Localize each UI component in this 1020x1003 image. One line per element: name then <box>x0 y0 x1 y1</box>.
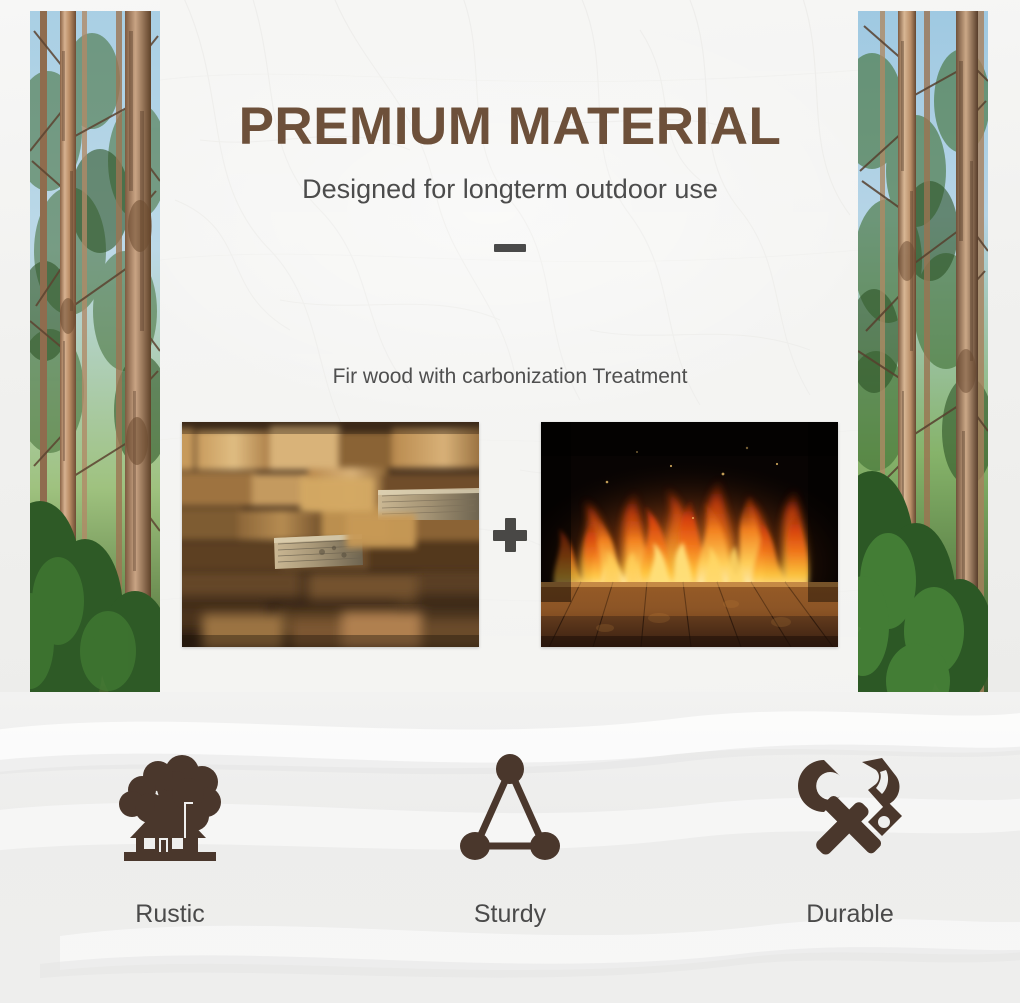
plus-icon <box>493 518 527 552</box>
feature-item-durable[interactable]: Durable <box>680 692 1020 1003</box>
house-with-tree-icon <box>110 750 230 870</box>
features-section: Rustic <box>0 692 1020 1003</box>
media-row <box>182 422 838 647</box>
title-block: PREMIUM MATERIAL Designed for longterm o… <box>160 98 860 252</box>
feature-label-rustic: Rustic <box>135 902 204 927</box>
hammer-wrench-icon <box>790 750 910 870</box>
page-title: PREMIUM MATERIAL <box>160 98 860 155</box>
material-caption: Fir wood with carbonization Treatment <box>160 365 860 389</box>
forest-strip-right <box>858 11 988 692</box>
feature-item-rustic[interactable]: Rustic <box>0 692 340 1003</box>
feature-label-sturdy: Sturdy <box>474 902 546 927</box>
feature-item-sturdy[interactable]: Sturdy <box>340 692 680 1003</box>
page-subtitle: Designed for longterm outdoor use <box>160 173 860 205</box>
hero-section: PREMIUM MATERIAL Designed for longterm o… <box>0 0 1020 700</box>
triangle-nodes-icon <box>450 750 570 870</box>
title-divider <box>494 244 526 252</box>
feature-label-durable: Durable <box>806 902 894 927</box>
stacked-lumber-photo <box>182 422 479 647</box>
forest-strip-left <box>30 11 160 692</box>
premium-material-poster: PREMIUM MATERIAL Designed for longterm o… <box>0 0 1020 1003</box>
fire-on-wood-floor-photo <box>541 422 838 647</box>
feature-grid: Rustic <box>0 692 1020 1003</box>
